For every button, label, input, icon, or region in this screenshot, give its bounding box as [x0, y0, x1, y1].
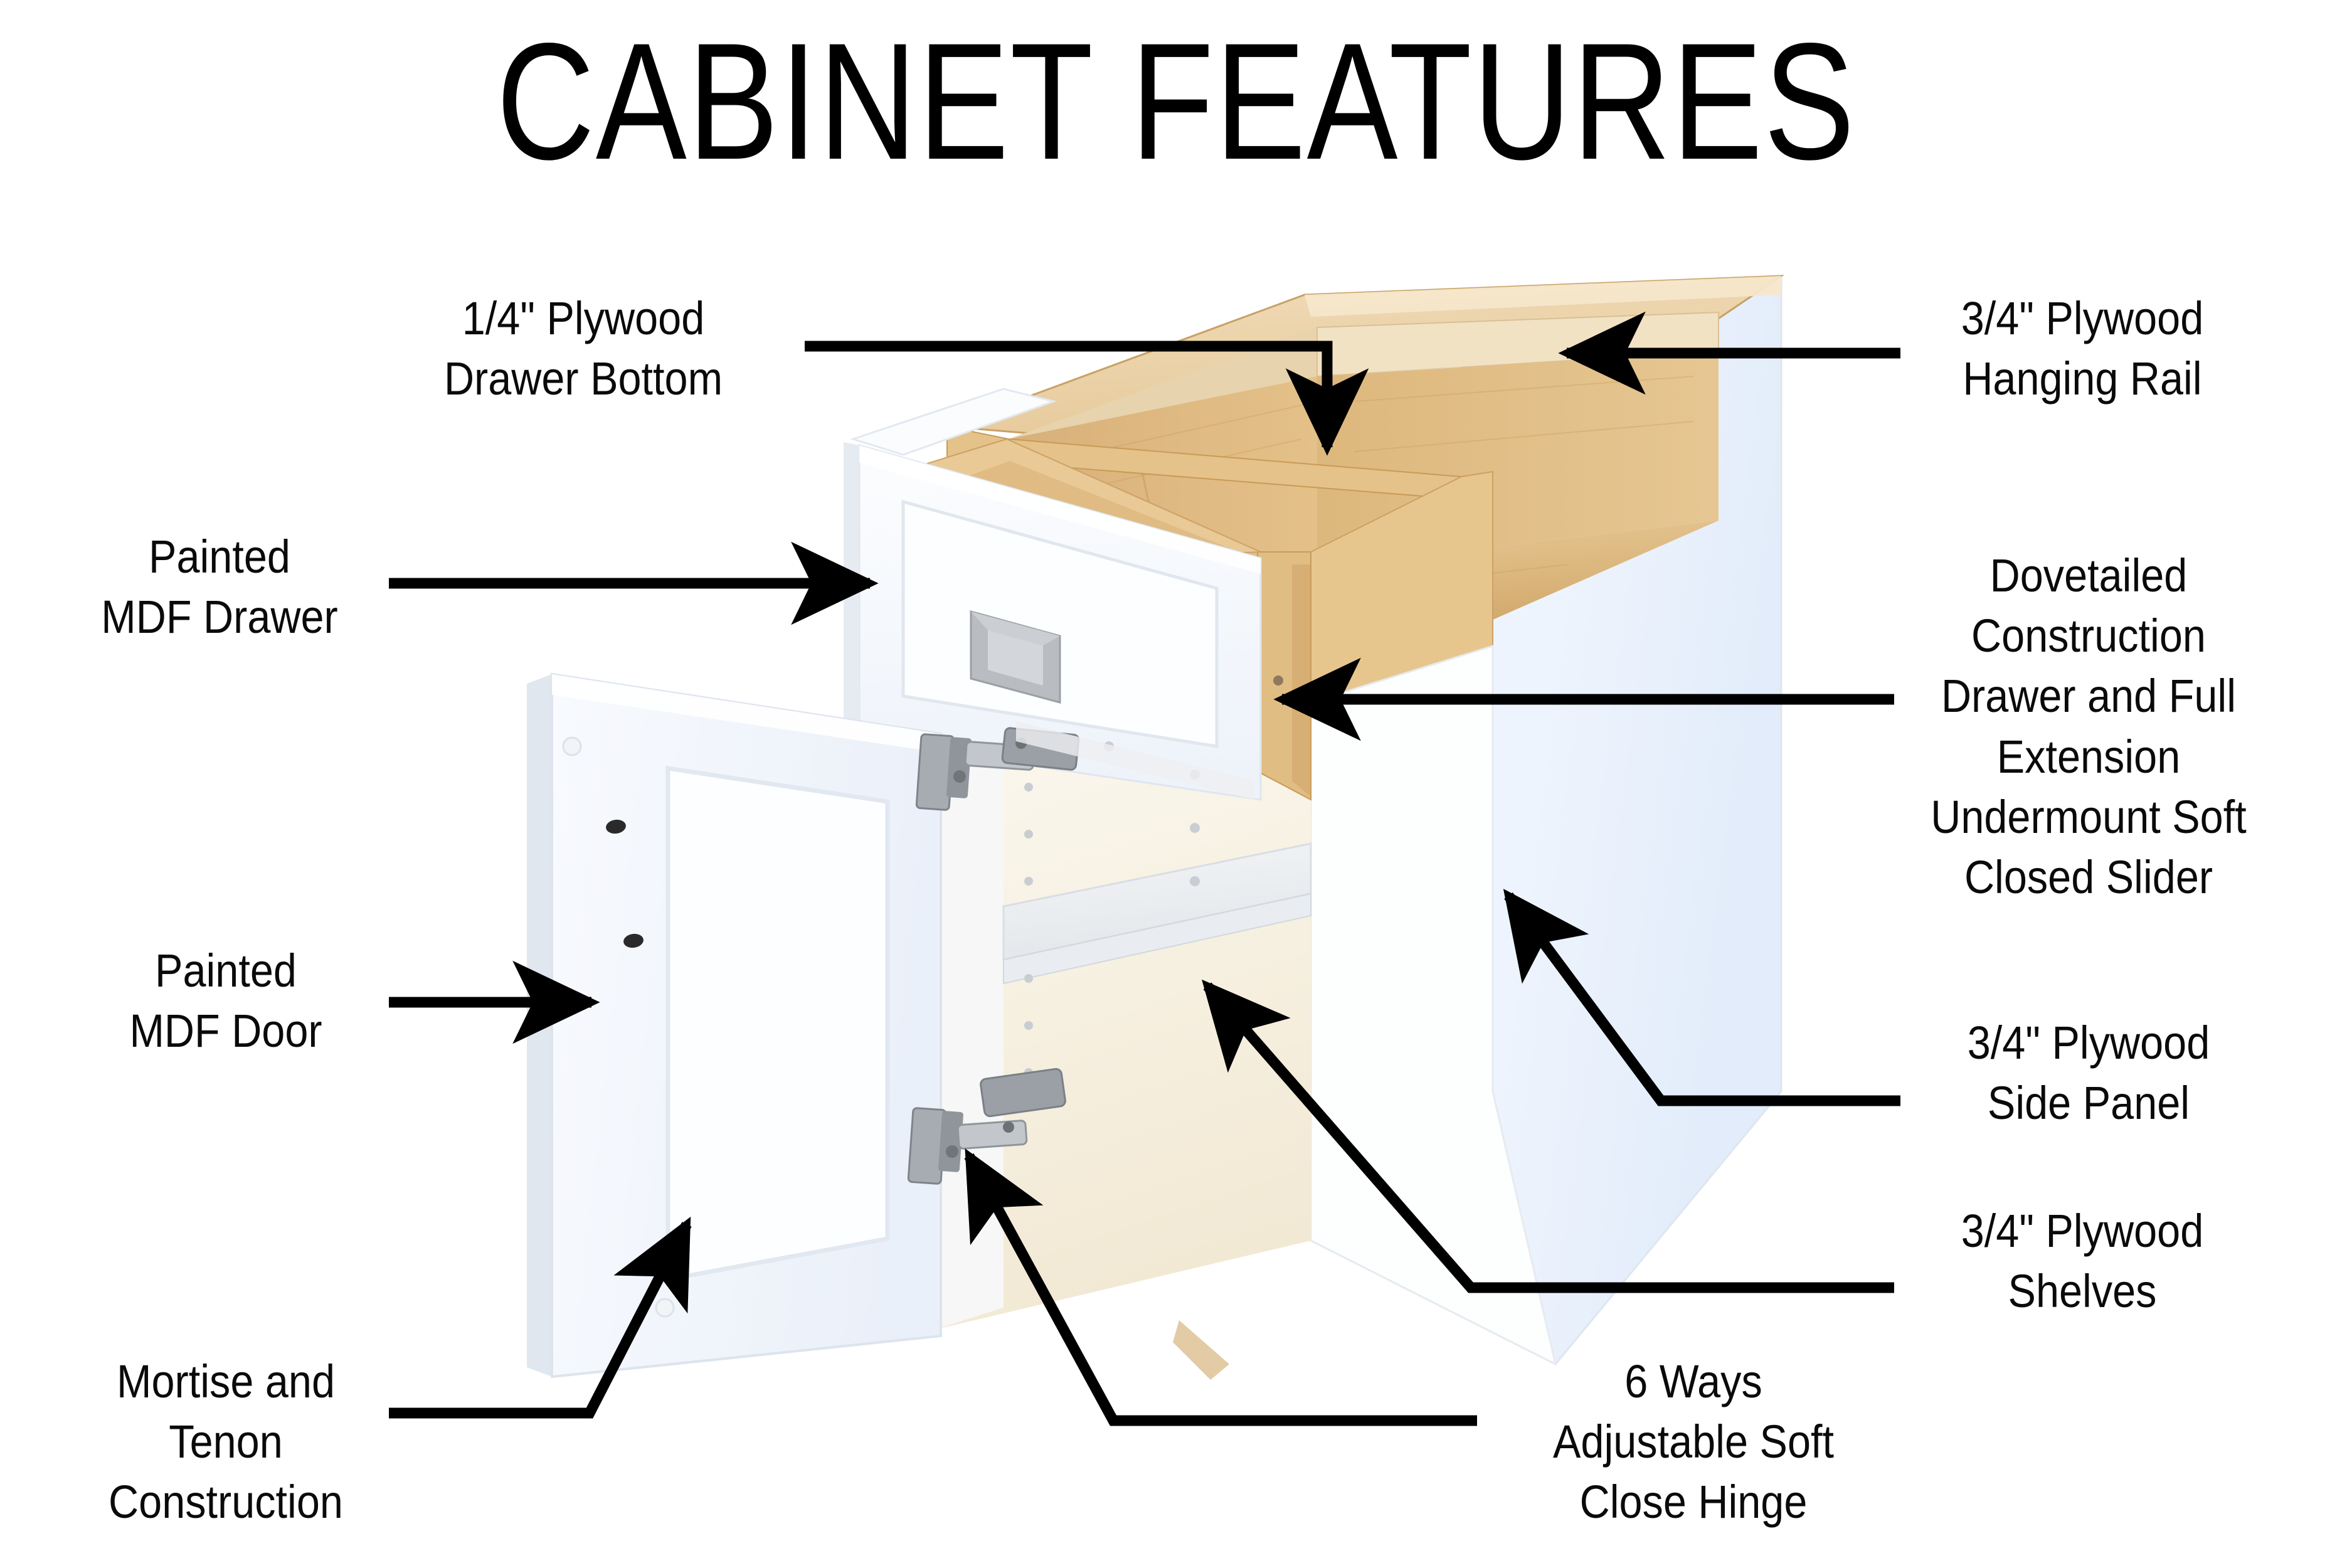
cabinet-photo: [527, 276, 1781, 1424]
label-hanging-rail: 3/4" Plywood Hanging Rail: [1902, 289, 2263, 409]
drawer-box-side-shadow: [1292, 564, 1311, 797]
cabinet-features-infographic: { "title": "CABINET FEATURES", "colors":…: [0, 0, 2352, 1568]
drawer-box-screw: [1273, 675, 1283, 686]
door-inner-panel: [668, 768, 887, 1279]
label-painted-mdf-drawer: Painted MDF Drawer: [56, 527, 383, 647]
label-mortise-tenon: Mortise and Tenon Construction: [51, 1352, 401, 1533]
label-dovetailed: Dovetailed Construction Drawer and Full …: [1888, 546, 2289, 908]
door-bumper-top: [563, 738, 581, 755]
label-painted-mdf-door: Painted MDF Door: [62, 941, 389, 1061]
door-bumper-bottom: [656, 1299, 674, 1316]
door-left-edge: [527, 674, 552, 1377]
drawer-front-left-edge: [844, 442, 859, 740]
label-hinge: 6 Ways Adjustable Soft Close Hinge: [1490, 1352, 1897, 1533]
label-drawer-bottom: 1/4" Plywood Drawer Bottom: [374, 289, 792, 409]
label-shelves: 3/4" Plywood Shelves: [1888, 1201, 2277, 1322]
label-side-panel: 3/4" Plywood Side Panel: [1902, 1013, 2275, 1133]
